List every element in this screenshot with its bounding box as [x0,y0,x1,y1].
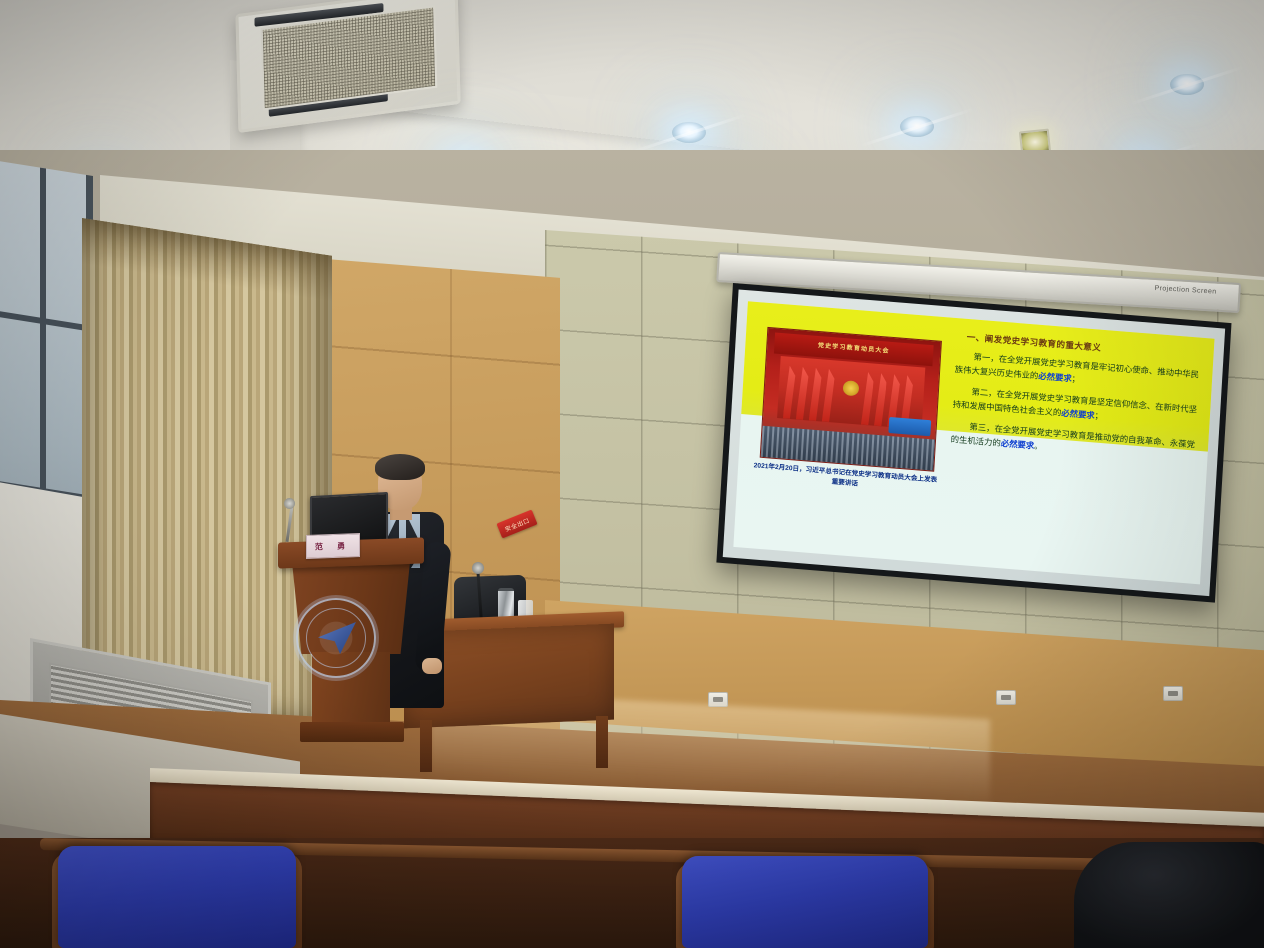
slide-p2-tail: ； [1094,410,1103,421]
downlight-8 [1170,74,1204,95]
emblem-arrow-icon [318,622,356,654]
table-microphone-head [472,562,484,574]
slide-p1-tail: ； [1071,373,1080,384]
slide-p2-lead: 第二， [971,387,997,399]
slide-p3-highlight: 必然要求 [1000,438,1034,451]
podium-base [300,722,404,742]
slide-photo: 党史学习教育动员大会 [760,327,943,471]
slide-p3-tail: 。 [1034,441,1043,452]
projection-screen-surface: 党史学习教育动员大会 2021年2月20日， [723,289,1225,596]
photo-broadcast-logo [889,417,931,437]
photo-flag-4 [822,369,835,423]
wall-outlet-2 [996,690,1016,705]
screen-brand-label: Projection Screen [1154,285,1216,296]
speaker-name-card: 范 勇 [306,533,360,559]
photo-flag-5 [861,372,874,426]
slide-p1-highlight: 必然要求 [1038,370,1072,383]
speaker-hair [375,454,425,480]
seated-audience-member [1074,842,1264,948]
photo-flag-1 [783,365,796,419]
slide-p1-lead: 第一， [973,352,999,364]
podium-microphone-head [284,498,295,509]
photo-flag-3 [809,367,822,421]
slide-p2-highlight: 必然要求 [1061,408,1095,421]
podium: 范 勇 [282,540,420,770]
wall-outlet-3 [1163,686,1183,701]
downlight-4 [672,122,706,143]
university-emblem [296,598,376,678]
table-leg-right [596,716,608,768]
photo-flag-6 [874,373,887,427]
downlight-6 [900,116,934,137]
speaker-name-text: 范 勇 [307,534,359,558]
slide-text-body: 一、阐发党史学习教育的重大意义 第一，在全党开展党史学习教育是牢记初心使命、推动… [950,330,1205,474]
photo-party-emblem [842,380,859,396]
presentation-slide: 党史学习教育动员大会 2021年2月20日， [733,301,1215,585]
lecture-hall-photo: 安全出口 Projection Screen 党史学习教育动员大会 [0,0,1264,948]
audience-seat-center[interactable] [682,856,928,948]
slide-p3-lead: 第三， [969,422,995,434]
speaker-hand [422,658,442,674]
projection-screen: 党史学习教育动员大会 2021年2月20日， [716,283,1231,603]
photo-flag-2 [796,366,809,420]
audience-seat-left[interactable] [58,846,296,948]
